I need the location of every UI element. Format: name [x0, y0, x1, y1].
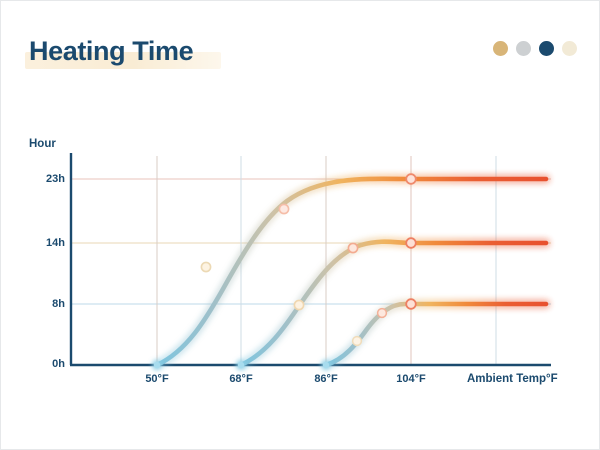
x-tick-68f: 68°F — [211, 373, 271, 385]
curve-14h-marker-2 — [348, 243, 357, 252]
y-tick-23h: 23h — [27, 173, 65, 185]
curve-23h-line — [157, 179, 546, 365]
x-tick-50f: 50°F — [127, 373, 187, 385]
curve-23h-start-dot-core — [154, 362, 160, 368]
title-block: Heating Time — [29, 31, 193, 71]
curve-14h-marker-3 — [406, 238, 416, 248]
page-title: Heating Time — [29, 36, 193, 67]
slide-canvas: Heating Time — [0, 0, 600, 450]
y-tick-14h: 14h — [27, 237, 65, 249]
curve-23h-marker-2 — [279, 204, 288, 213]
curve-8h-start-dot-core — [323, 362, 329, 368]
curve-23h-marker-3 — [406, 174, 416, 184]
curve-8h-marker-2 — [378, 309, 387, 318]
y-tick-0h: 0h — [27, 358, 65, 370]
series-curve-8h — [322, 299, 547, 369]
curve-23h-glow — [157, 179, 546, 365]
series-curve-23h — [153, 174, 547, 369]
x-tick-86f: 86°F — [296, 373, 356, 385]
x-axis-title: Ambient Temp°F — [467, 373, 558, 385]
curve-8h-marker-1 — [353, 337, 362, 346]
y-axis-title: Hour — [29, 138, 56, 150]
axes — [70, 153, 551, 365]
curve-23h-marker-1 — [201, 262, 210, 271]
curve-8h-marker-3 — [406, 299, 416, 309]
curve-14h-start-dot-core — [238, 362, 244, 368]
y-tick-8h: 8h — [27, 298, 65, 310]
x-tick-104f: 104°F — [381, 373, 441, 385]
curve-14h-marker-1 — [294, 300, 303, 309]
curve-8h-glow — [326, 304, 546, 365]
